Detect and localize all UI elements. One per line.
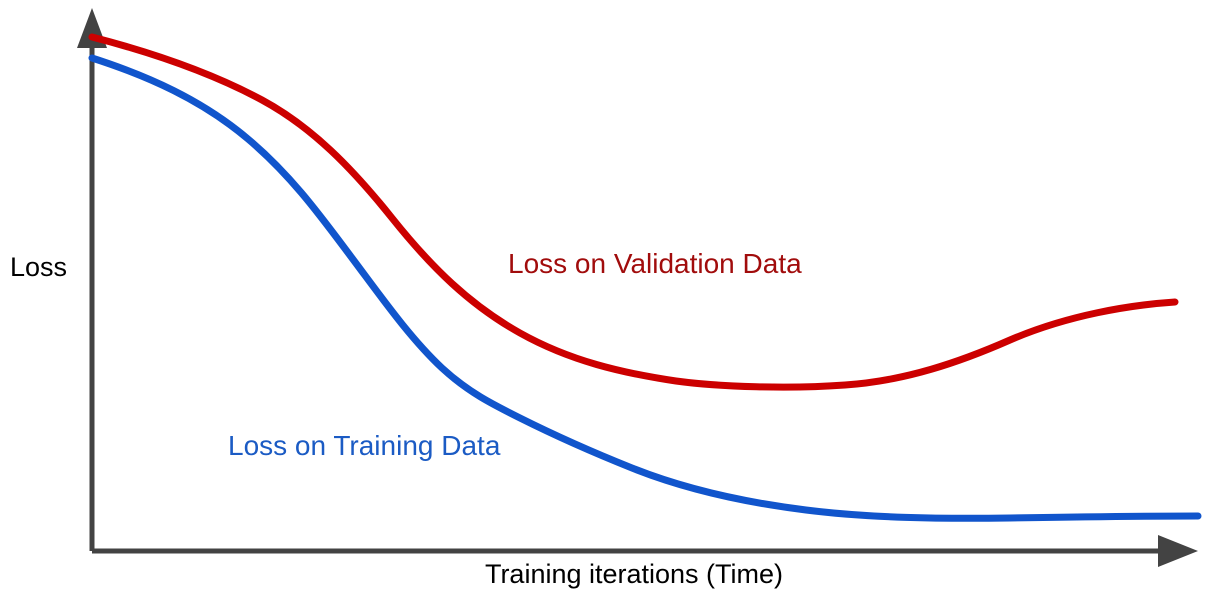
chart-canvas: Loss Training iterations (Time) Loss on … — [0, 0, 1206, 591]
loss-curve-chart: Loss Training iterations (Time) Loss on … — [0, 0, 1206, 591]
training-series-label: Loss on Training Data — [228, 430, 501, 461]
validation-loss-curve — [92, 37, 1175, 387]
y-axis-label: Loss — [10, 252, 67, 282]
validation-series-label: Loss on Validation Data — [508, 248, 802, 279]
x-axis-arrow-icon — [1158, 535, 1198, 567]
x-axis-label: Training iterations (Time) — [485, 559, 783, 589]
